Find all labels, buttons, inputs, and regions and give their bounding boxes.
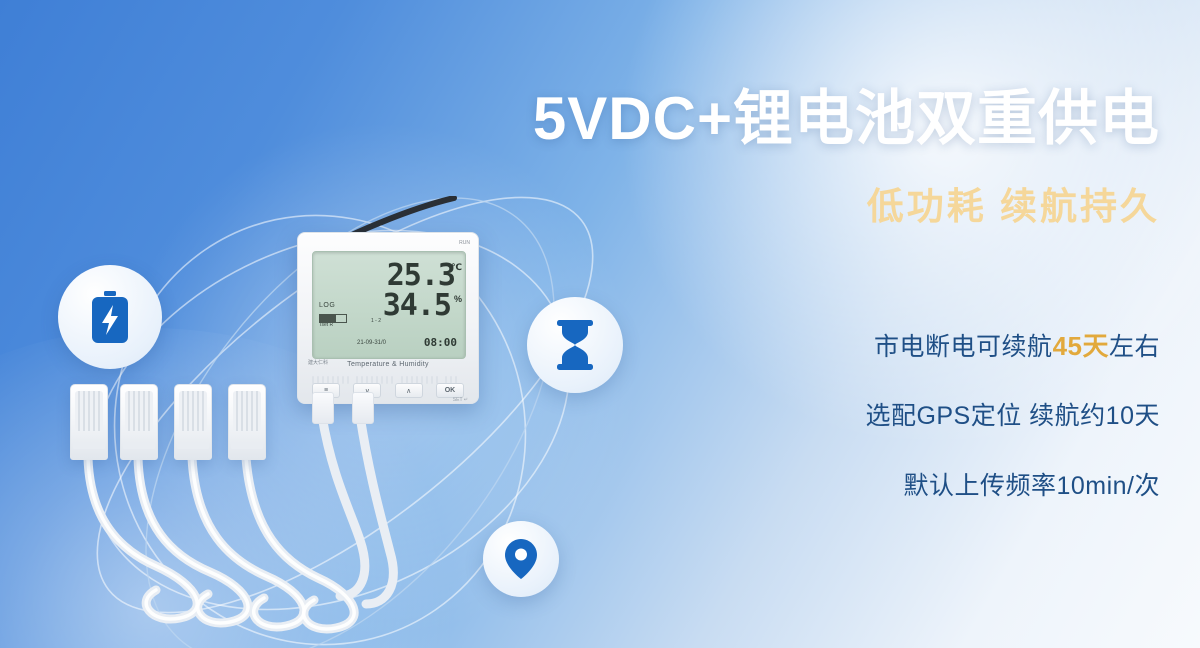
subheadline: 低功耗 续航持久 — [470, 185, 1160, 229]
probe-2 — [120, 384, 158, 460]
bullet-item-2: 选配GPS定位 续航约10天 — [520, 401, 1160, 432]
probe-group — [60, 380, 480, 640]
location-badge — [483, 521, 559, 597]
probe-4-collar — [231, 442, 263, 449]
lcd-page-label: 1 - 2 — [371, 318, 381, 324]
battery-badge — [58, 265, 162, 369]
bullet-1-suffix: 左右 — [1109, 333, 1160, 361]
probe-1-filter-cap — [75, 391, 103, 431]
lcd-humidity-value: 34.5 — [383, 288, 451, 323]
headline: 5VDC+锂电池双重供电 — [370, 85, 1160, 152]
probe-2-collar — [123, 442, 155, 449]
lcd-humidity-unit: % — [454, 294, 462, 304]
probe-1-collar — [73, 442, 105, 449]
probe-4-filter-cap — [233, 391, 261, 431]
probe-4 — [228, 384, 266, 460]
hourglass-icon — [552, 319, 598, 371]
device-caption: Temperature & Humidity — [298, 361, 478, 368]
probe-3-collar — [177, 442, 209, 449]
bullet-2-prefix: 选配GPS定位 续航约10天 — [865, 402, 1160, 430]
promo-banner: 5VDC+锂电池双重供电 低功耗 续航持久 市电断电可续航45天左右 选配GPS… — [0, 0, 1200, 648]
device-top-strip: RUN — [306, 238, 470, 248]
cable-connector-1 — [312, 392, 334, 424]
lcd-temperature-unit: ℃ — [451, 262, 462, 273]
device-vent-grill — [312, 371, 464, 379]
bullet-1-prefix: 市电断电可续航 — [874, 333, 1053, 361]
cable-connector-2 — [352, 392, 374, 424]
probe-3 — [174, 384, 212, 460]
bullet-3-prefix: 默认上传频率10min/次 — [903, 472, 1160, 500]
device-run-led-label: RUN — [459, 240, 470, 246]
lcd-date: 21-09-31/0 — [357, 340, 386, 346]
lcd-screen: 25.3 ℃ 34.5 % LOG Tset R 1 - 2 21-09-31/… — [312, 251, 466, 359]
probe-2-filter-cap — [125, 391, 153, 431]
lcd-battery-bar — [319, 314, 347, 323]
probe-1 — [70, 384, 108, 460]
battery-bolt-icon — [84, 289, 136, 345]
sensor-device: RUN 25.3 ℃ 34.5 % LOG Tset R 1 - 2 21-09… — [297, 232, 479, 404]
bullet-1-highlight: 45天 — [1053, 331, 1109, 361]
probe-3-filter-cap — [179, 391, 207, 431]
lcd-log-label: LOG — [319, 302, 335, 309]
bullet-item-3: 默认上传频率10min/次 — [520, 471, 1160, 502]
hourglass-badge — [527, 297, 623, 393]
location-pin-icon — [504, 538, 538, 580]
lcd-time: 08:00 — [424, 336, 457, 349]
